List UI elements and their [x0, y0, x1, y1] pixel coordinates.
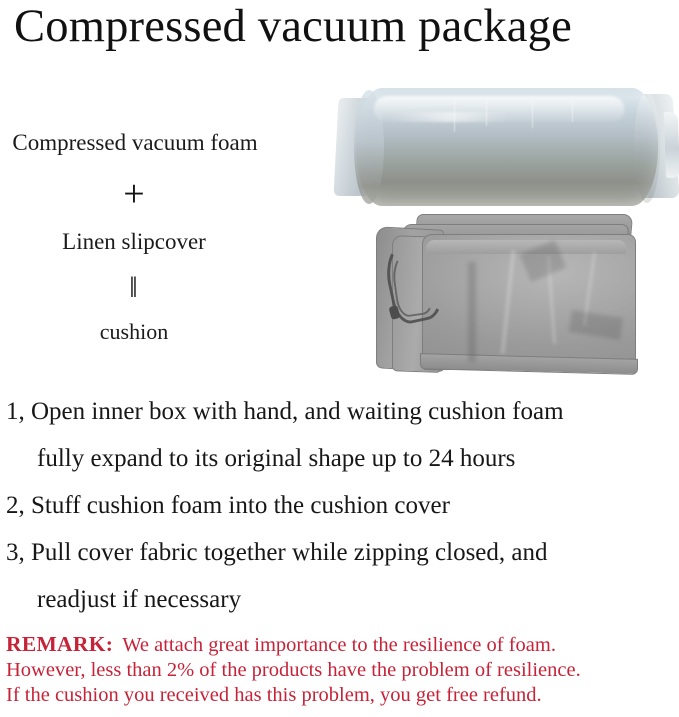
- equation-term-slipcover: Linen slipcover: [0, 227, 268, 257]
- remark-line-2: However, less than 2% of the products ha…: [6, 658, 674, 683]
- plastic-crease: [572, 98, 573, 122]
- remark-line-3: If the cushion you received has this pro…: [6, 683, 674, 708]
- remark-text-1: We attach great importance to the resili…: [122, 634, 556, 656]
- fabric-shadow: [468, 262, 476, 362]
- plastic-highlight-secondary: [390, 112, 510, 122]
- spacer: [0, 213, 268, 227]
- step-2: 2, Stuff cushion foam into the cushion c…: [6, 482, 671, 529]
- equals-operator-icon: ‖: [0, 269, 268, 307]
- plus-operator-icon: +: [0, 175, 268, 213]
- foam-roll-right-end: [634, 91, 660, 203]
- compressed-foam-roll-photo: [336, 88, 676, 206]
- step-3-line-1: 3, Pull cover fabric together while zipp…: [6, 539, 548, 566]
- product-instruction-image: Compressed vacuum package Compressed vac…: [0, 0, 679, 717]
- step-1-line-1: 1, Open inner box with hand, and waiting…: [6, 398, 564, 425]
- plastic-crease: [454, 98, 455, 132]
- step-3: 3, Pull cover fabric together while zipp…: [6, 529, 671, 623]
- page-title: Compressed vacuum package: [14, 0, 667, 54]
- spacer: [0, 257, 268, 269]
- step-1: 1, Open inner box with hand, and waiting…: [6, 388, 671, 482]
- remark-line-1: REMARK:We attach great importance to the…: [6, 632, 674, 658]
- plastic-crease: [532, 98, 533, 128]
- equation-block: Compressed vacuum foam + Linen slipcover…: [0, 128, 268, 347]
- remark-block: REMARK:We attach great importance to the…: [6, 632, 674, 708]
- spacer: [0, 307, 268, 317]
- step-1-line-2: fully expand to its original shape up to…: [6, 435, 671, 482]
- step-3-line-2: readjust if necessary: [6, 576, 671, 623]
- remark-label: REMARK:: [6, 632, 113, 656]
- step-2-line-1: 2, Stuff cushion foam into the cushion c…: [6, 492, 450, 519]
- folded-slipcover-photo: [374, 206, 642, 376]
- plastic-crease: [486, 98, 487, 126]
- instruction-steps: 1, Open inner box with hand, and waiting…: [6, 388, 671, 623]
- equation-term-foam: Compressed vacuum foam: [2, 128, 268, 158]
- equation-result-cushion: cushion: [0, 317, 268, 347]
